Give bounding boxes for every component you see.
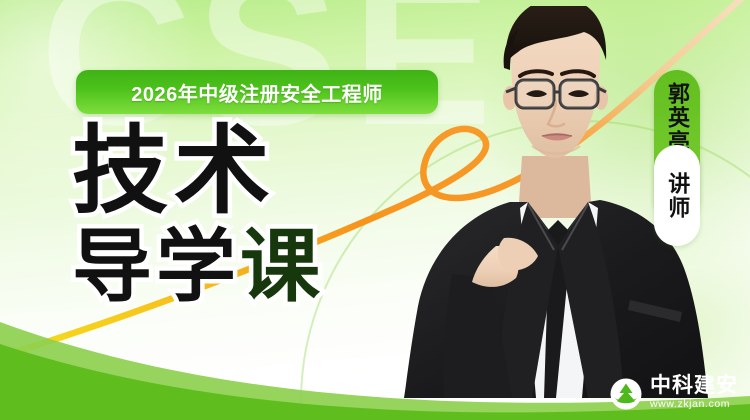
brand-url: www.zkjan.com [650, 398, 738, 412]
headline-line-2-green: 课 [240, 222, 324, 311]
teacher-role-badge: 讲师 [654, 145, 700, 246]
teacher-name: 郭英亮 [664, 82, 690, 154]
headline-line-1: 技术 [72, 126, 324, 218]
zkjan-circle-logo-icon [610, 378, 642, 410]
course-series-banner: 2026年中级注册安全工程师 [76, 70, 438, 114]
headline-line-2-black: 导学 [72, 222, 240, 311]
brand-name: 中科建安 [650, 375, 738, 397]
course-series-label: 2026年中级注册安全工程师 [131, 78, 383, 107]
course-poster: C S E [0, 0, 750, 420]
teacher-role: 讲师 [664, 172, 690, 220]
brand-text-block: 中科建安 www.zkjan.com [650, 375, 738, 412]
headline-block: 技术 导学课 [72, 126, 324, 307]
headline-line-2: 导学课 [72, 228, 324, 306]
brand-logo: 中科建安 www.zkjan.com [610, 375, 738, 412]
